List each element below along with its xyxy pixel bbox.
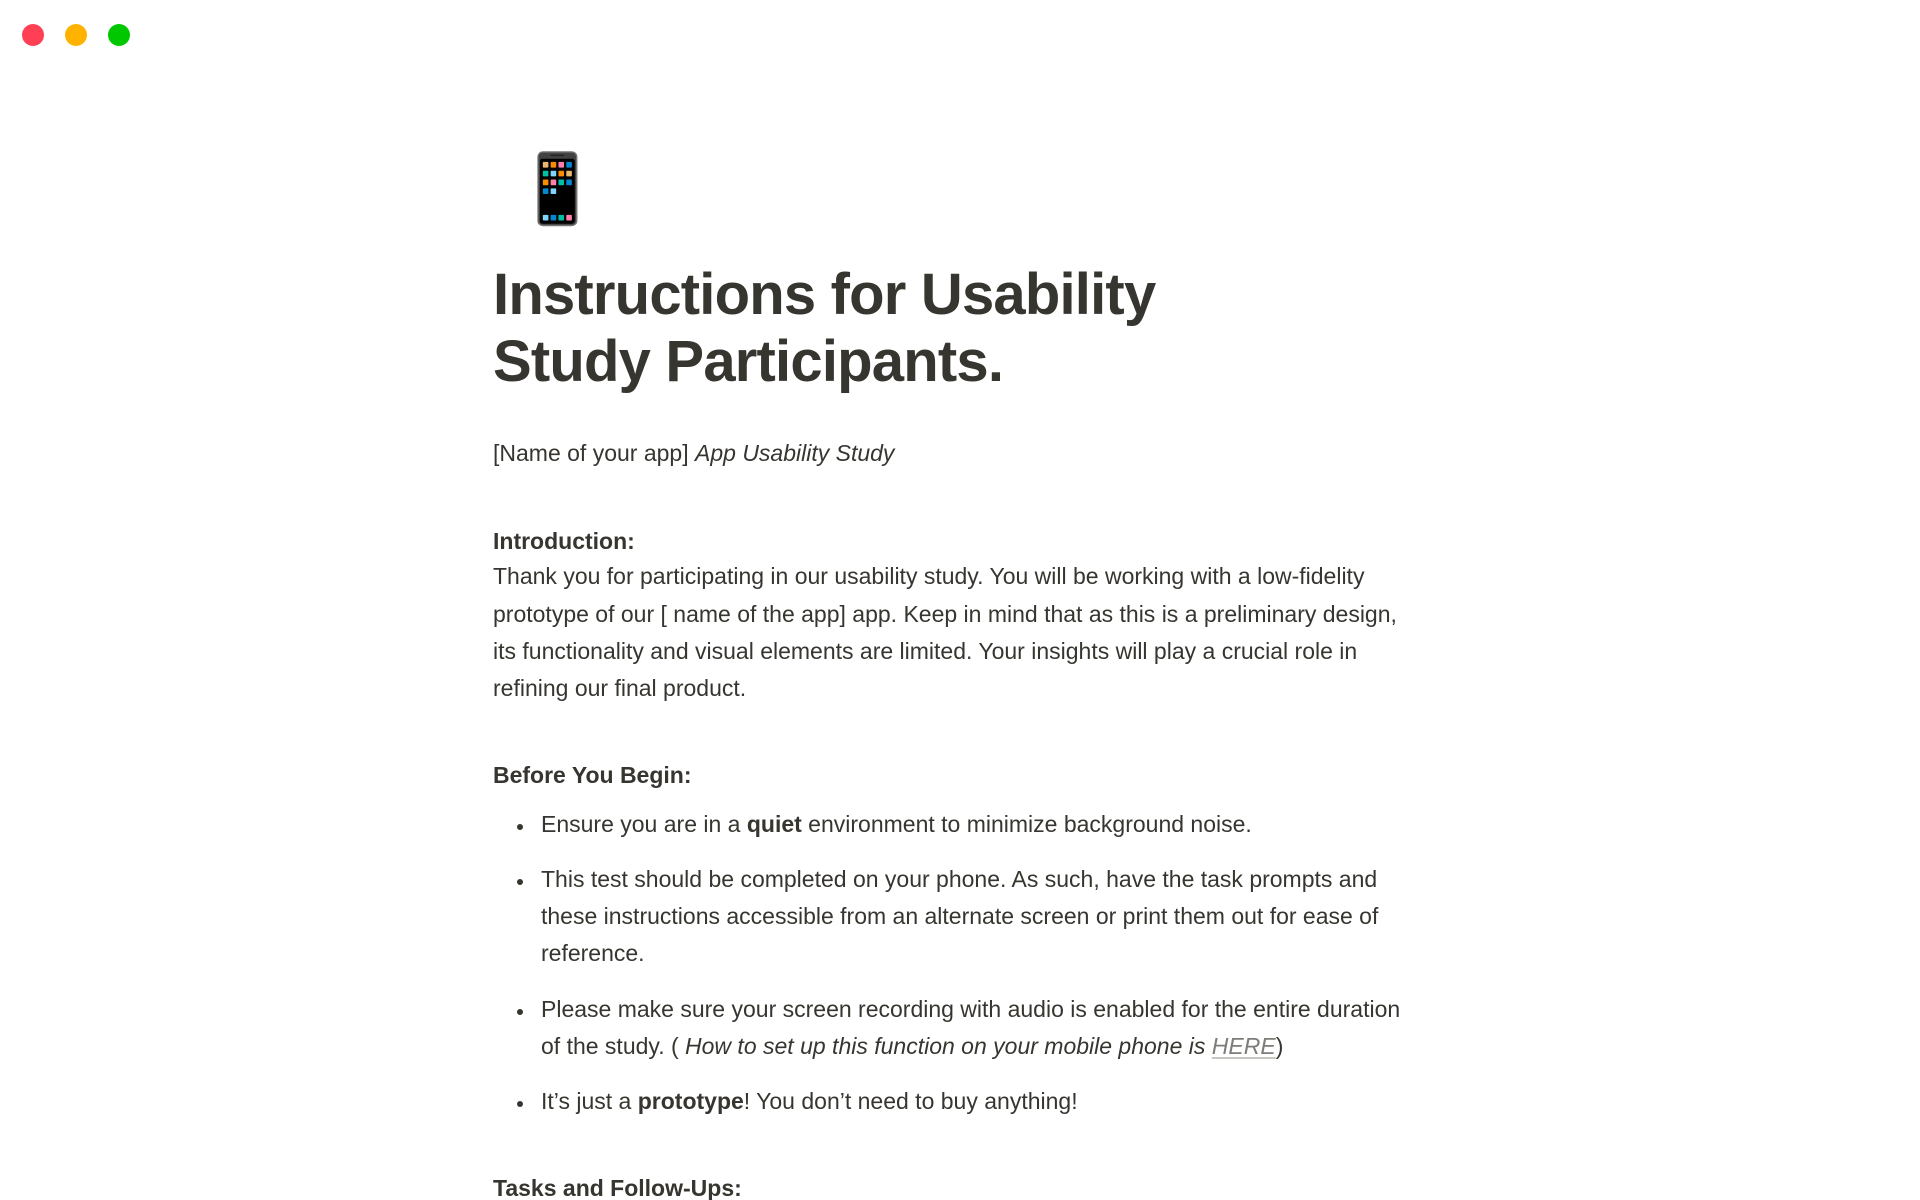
maximize-window-button[interactable] bbox=[108, 24, 130, 46]
document-section: Introduction:Thank you for participating… bbox=[493, 525, 1437, 707]
document-section: Before You Begin:Ensure you are in a qui… bbox=[493, 759, 1437, 1120]
bullet-text: environment to minimize background noise… bbox=[802, 811, 1252, 837]
section-paragraph[interactable]: Thank you for participating in our usabi… bbox=[493, 558, 1423, 707]
list-item[interactable]: Ensure you are in a quiet environment to… bbox=[535, 806, 1423, 843]
document-page: 📱 Instructions for Usability Study Parti… bbox=[493, 62, 1437, 1200]
document-section: Tasks and Follow-Ups:Read each task prom… bbox=[493, 1172, 1437, 1200]
section-heading[interactable]: Introduction: bbox=[493, 525, 1437, 558]
minimize-window-button[interactable] bbox=[65, 24, 87, 46]
list-item[interactable]: It’s just a prototype! You don’t need to… bbox=[535, 1083, 1423, 1120]
subtitle-study-label: App Usability Study bbox=[695, 440, 894, 466]
mobile-phone-emoji-icon[interactable]: 📱 bbox=[515, 156, 1437, 248]
bullet-text: ) bbox=[1276, 1033, 1284, 1059]
bullet-text: ! You don’t need to buy anything! bbox=[744, 1088, 1078, 1114]
document-subtitle[interactable]: [Name of your app] App Usability Study bbox=[493, 436, 1437, 471]
subtitle-app-name-placeholder: [Name of your app] bbox=[493, 440, 695, 466]
document-sections: Introduction:Thank you for participating… bbox=[493, 525, 1437, 1200]
bullet-italic: How to set up this function on your mobi… bbox=[685, 1033, 1212, 1059]
here-link[interactable]: HERE bbox=[1212, 1033, 1276, 1059]
section-heading[interactable]: Tasks and Follow-Ups: bbox=[493, 1172, 1437, 1200]
bulleted-list: Ensure you are in a quiet environment to… bbox=[493, 806, 1423, 1121]
bullet-text: Ensure you are in a bbox=[541, 811, 747, 837]
section-heading[interactable]: Before You Begin: bbox=[493, 759, 1437, 792]
bullet-emphasis: prototype bbox=[638, 1088, 744, 1114]
bullet-text: This test should be completed on your ph… bbox=[541, 866, 1378, 967]
window-controls bbox=[22, 24, 130, 46]
bullet-emphasis: quiet bbox=[747, 811, 802, 837]
bullet-text: It’s just a bbox=[541, 1088, 638, 1114]
list-item[interactable]: Please make sure your screen recording w… bbox=[535, 991, 1423, 1066]
close-window-button[interactable] bbox=[22, 24, 44, 46]
list-item[interactable]: This test should be completed on your ph… bbox=[535, 861, 1423, 973]
document-scroll-area[interactable]: 📱 Instructions for Usability Study Parti… bbox=[0, 62, 1920, 1200]
window-title-bar bbox=[0, 0, 1920, 62]
page-title[interactable]: Instructions for Usability Study Partici… bbox=[493, 261, 1293, 396]
